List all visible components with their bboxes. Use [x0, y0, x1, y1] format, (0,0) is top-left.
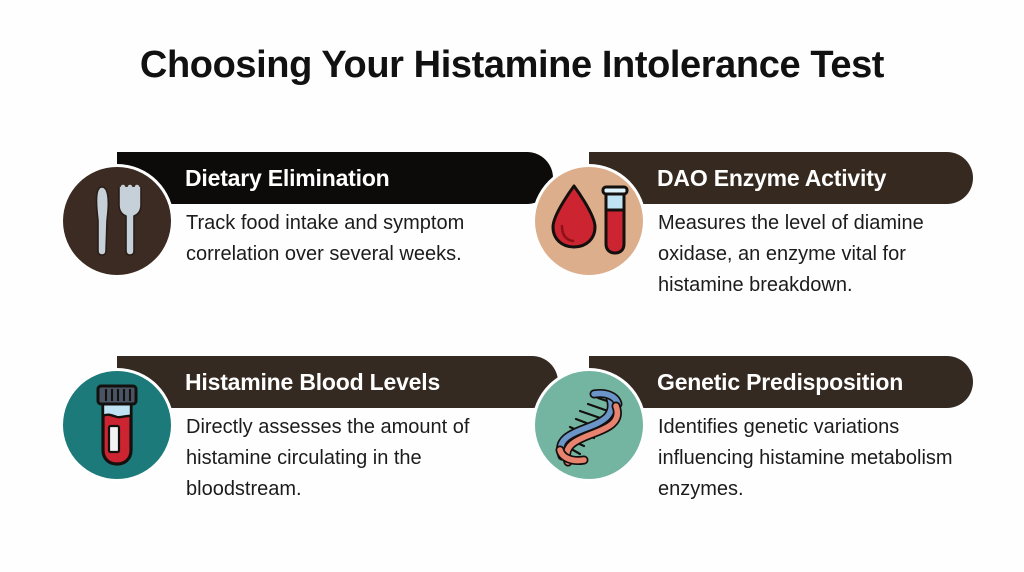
card-header-pill: DAO Enzyme Activity [589, 152, 973, 204]
card-title: DAO Enzyme Activity [657, 165, 886, 192]
card-dao-enzyme-activity[interactable]: DAO Enzyme Activity Measures the level o… [524, 148, 994, 343]
card-title: Histamine Blood Levels [185, 369, 440, 396]
card-description: Measures the level of diamine oxidase, a… [658, 208, 988, 301]
card-genetic-predisposition[interactable]: Genetic Predisposition [524, 352, 994, 547]
icon-badge [60, 368, 174, 482]
card-title: Dietary Elimination [185, 165, 390, 192]
card-description: Track food intake and symptom correlatio… [186, 208, 506, 270]
blood-drop-test-tube-icon [535, 167, 643, 275]
dna-helix-icon [535, 371, 643, 479]
card-description: Identifies genetic variations influencin… [658, 412, 988, 505]
cutlery-icon [63, 167, 171, 275]
icon-badge [532, 164, 646, 278]
icon-badge [532, 368, 646, 482]
blood-vial-icon [63, 371, 171, 479]
card-header-pill: Histamine Blood Levels [117, 356, 558, 408]
infographic-canvas: Choosing Your Histamine Intolerance Test… [0, 0, 1024, 572]
card-header-pill: Genetic Predisposition [589, 356, 973, 408]
card-header-pill: Dietary Elimination [117, 152, 553, 204]
card-histamine-blood-levels[interactable]: Histamine Blood Levels Directly assesses… [52, 352, 522, 547]
card-title: Genetic Predisposition [657, 369, 903, 396]
card-description: Directly assesses the amount of histamin… [186, 412, 506, 505]
icon-badge [60, 164, 174, 278]
page-title: Choosing Your Histamine Intolerance Test [0, 44, 1024, 87]
card-dietary-elimination[interactable]: Dietary Elimination Track food intake an… [52, 148, 522, 343]
